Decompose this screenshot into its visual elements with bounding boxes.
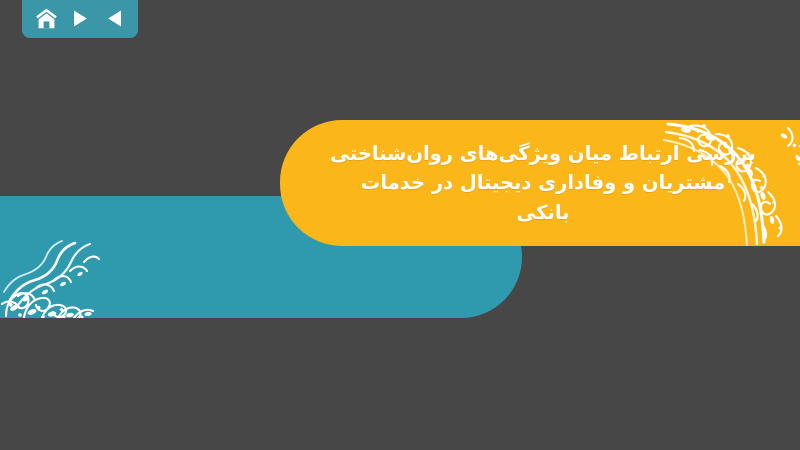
- triangle-right-icon: [72, 9, 89, 28]
- next-slide-button[interactable]: [67, 5, 93, 31]
- arabesque-corner-ornament: [0, 196, 118, 318]
- previous-slide-button[interactable]: [101, 5, 127, 31]
- slide-navigation-toolbar: [22, 0, 138, 38]
- slide-title: بررسی ارتباط میان ویژگی‌های روان‌شناختی …: [320, 139, 780, 228]
- triangle-left-icon: [106, 9, 123, 28]
- slide-title-line-1: بررسی ارتباط میان ویژگی‌های روان‌شناختی: [320, 139, 766, 169]
- slide-title-line-2: مشتریان و وفاداری دیجیتال در خدمات: [320, 168, 766, 198]
- home-button[interactable]: [33, 5, 59, 31]
- slide-title-line-3: بانکی: [320, 198, 766, 228]
- home-icon: [35, 8, 58, 29]
- presentation-slide: بررسی ارتباط میان ویژگی‌های روان‌شناختی …: [0, 0, 800, 450]
- title-banner: بررسی ارتباط میان ویژگی‌های روان‌شناختی …: [280, 120, 800, 246]
